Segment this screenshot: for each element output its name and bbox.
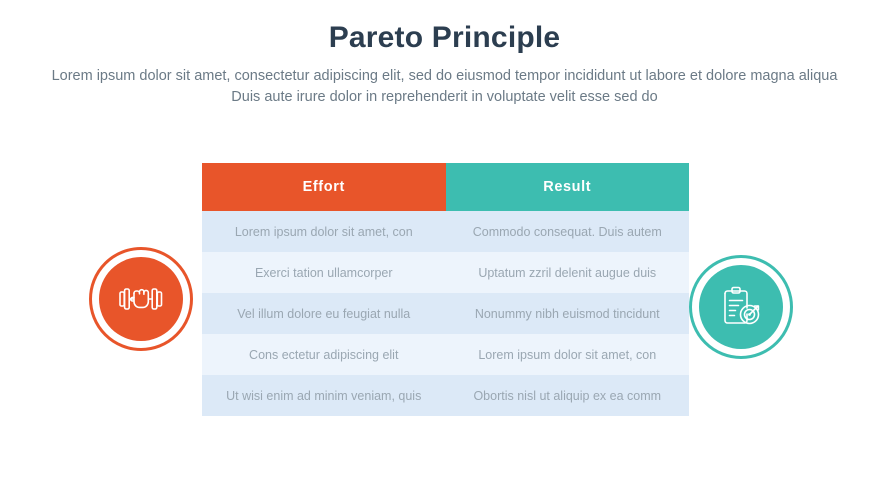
table-row: Cons ectetur adipiscing elit Lorem ipsum… xyxy=(202,334,689,375)
column-header-effort: Effort xyxy=(202,163,446,211)
badge-result-circle xyxy=(699,265,783,349)
cell-effort: Lorem ipsum dolor sit amet, con xyxy=(202,211,446,252)
cell-result: Lorem ipsum dolor sit amet, con xyxy=(446,334,690,375)
badge-result xyxy=(689,255,793,359)
header: Pareto Principle Lorem ipsum dolor sit a… xyxy=(0,18,889,108)
cell-result: Obortis nisl ut aliquip ex ea comm xyxy=(446,375,690,416)
clipboard-target-icon xyxy=(718,284,764,330)
badge-effort xyxy=(89,247,193,351)
badge-effort-circle xyxy=(99,257,183,341)
cell-effort: Cons ectetur adipiscing elit xyxy=(202,334,446,375)
table-row: Exerci tation ullamcorper Uptatum zzril … xyxy=(202,252,689,293)
cell-effort: Vel illum dolore eu feugiat nulla xyxy=(202,293,446,334)
cell-result: Nonummy nibh euismod tincidunt xyxy=(446,293,690,334)
cell-result: Uptatum zzril delenit augue duis xyxy=(446,252,690,293)
table-row: Vel illum dolore eu feugiat nulla Nonumm… xyxy=(202,293,689,334)
table-row: Ut wisi enim ad minim veniam, quis Obort… xyxy=(202,375,689,416)
cell-effort: Ut wisi enim ad minim veniam, quis xyxy=(202,375,446,416)
cell-result: Commodo consequat. Duis autem xyxy=(446,211,690,252)
column-header-result: Result xyxy=(446,163,690,211)
table-row: Lorem ipsum dolor sit amet, con Commodo … xyxy=(202,211,689,252)
slide-canvas: Pareto Principle Lorem ipsum dolor sit a… xyxy=(0,0,889,500)
pareto-table: Effort Result Lorem ipsum dolor sit amet… xyxy=(202,163,689,416)
dumbbell-fist-icon xyxy=(118,279,164,319)
table-header-row: Effort Result xyxy=(202,163,689,211)
page-title: Pareto Principle xyxy=(0,18,889,58)
cell-effort: Exerci tation ullamcorper xyxy=(202,252,446,293)
page-subtitle: Lorem ipsum dolor sit amet, consectetur … xyxy=(45,66,845,108)
